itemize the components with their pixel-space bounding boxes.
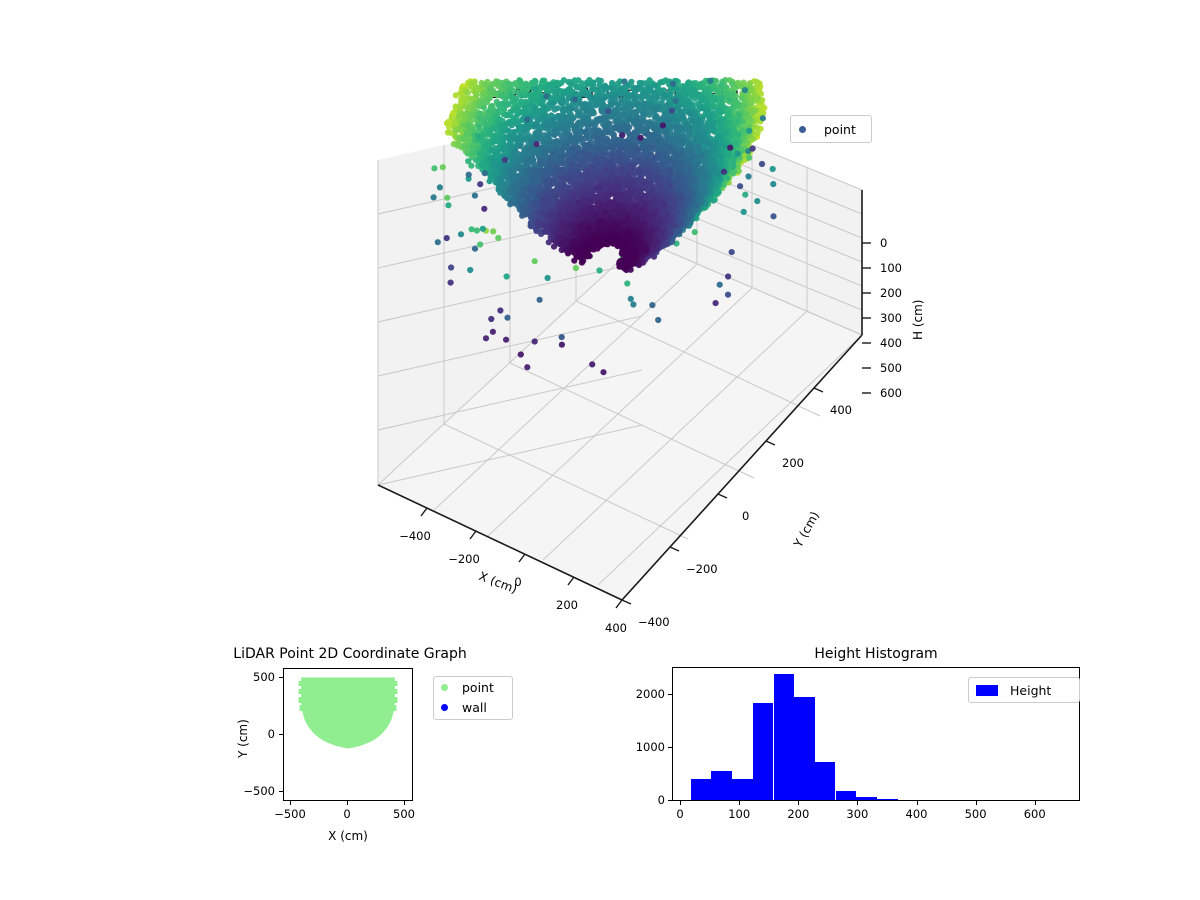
panel-2d-title: LiDAR Point 2D Coordinate Graph (233, 646, 466, 662)
hist-y-tick-label: 1000 (636, 740, 665, 754)
x-tick-label-n500: −500 (274, 807, 306, 821)
hist-y-tick-label: 2000 (636, 687, 665, 701)
x-tick-label-0: 0 (343, 807, 350, 821)
histogram-bar (856, 797, 877, 800)
legend-item-point: point (791, 116, 871, 142)
x-tick-label-0: −400 (399, 529, 431, 543)
hist-y-tick-mark (668, 800, 672, 801)
panel-2d-y-axis-label: Y (cm) (236, 719, 250, 758)
hist-x-tick-label: 100 (728, 807, 750, 821)
hist-x-tick-mark (1035, 801, 1036, 805)
x-tick-mark-2 (404, 801, 405, 805)
histogram-bar (691, 779, 712, 800)
y-tick-label-500: 500 (253, 670, 275, 684)
point-marker-icon (441, 684, 448, 691)
hist-x-tick-label: 400 (906, 807, 928, 821)
hist-x-tick-mark (798, 801, 799, 805)
hist-x-tick-label: 200 (787, 807, 809, 821)
y-tick-mark-1 (279, 734, 283, 735)
y-tick-label-1: −200 (686, 562, 718, 576)
panel-2d-x-axis-label: X (cm) (328, 829, 368, 843)
y-tick-label-0: 0 (268, 727, 275, 741)
x-tick-mark-0 (290, 801, 291, 805)
z-tick-label-2: 200 (880, 286, 902, 300)
hist-y-tick-label: 0 (658, 793, 665, 807)
axes-3d-canvas (360, 140, 900, 620)
hist-y-tick-mark (668, 747, 672, 748)
histogram-bar (711, 771, 732, 800)
z-ticks (862, 243, 871, 393)
y-tick-label-0: −400 (638, 615, 670, 629)
x-tick-label-500: 500 (393, 807, 415, 821)
z-tick-label-1: 100 (880, 261, 902, 275)
hist-x-tick-label: 0 (676, 807, 683, 821)
hist-x-tick-label: 300 (846, 807, 868, 821)
y-tick-mark-0 (279, 677, 283, 678)
hist-y-tick-mark (668, 694, 672, 695)
legend-label-point: point (462, 680, 494, 695)
x-tick-label-4: 400 (605, 621, 627, 635)
y-tick-label-3: 200 (782, 456, 804, 470)
legend-label-wall: wall (462, 700, 487, 715)
x-tick-label-1: −200 (448, 552, 480, 566)
hist-x-tick-mark (739, 801, 740, 805)
histogram-bar (774, 674, 795, 800)
legend-item-point-2d: point (434, 677, 512, 697)
legend-item-height: Height (969, 678, 1079, 702)
legend-label-height: Height (1010, 683, 1051, 698)
y-tick-label-n500: −500 (243, 784, 275, 798)
legend-3d: point (790, 115, 872, 143)
legend-item-wall-2d: wall (434, 697, 512, 717)
height-patch-icon (976, 685, 998, 696)
x-tick-label-3: 200 (556, 598, 578, 612)
axes-3d (360, 140, 900, 620)
legend-histogram: Height (968, 677, 1080, 703)
hist-x-tick-mark (976, 801, 977, 805)
y-tick-label-2: 0 (742, 509, 749, 523)
legend-label-point: point (824, 122, 856, 137)
axes-2d-canvas (284, 669, 412, 800)
matplotlib-figure: LiDAR Point 3D Coordinate Graph point (0, 0, 1200, 900)
histogram-bar (732, 779, 753, 800)
z-tick-label-5: 500 (880, 361, 902, 375)
hist-x-tick-mark (680, 801, 681, 805)
hist-x-tick-label: 500 (965, 807, 987, 821)
x-tick-mark-1 (347, 801, 348, 805)
histogram-bar (815, 762, 836, 800)
histogram-bar (877, 799, 898, 800)
z-tick-label-0: 0 (880, 236, 887, 250)
z-tick-label-4: 400 (880, 336, 902, 350)
panel-hist-title: Height Histogram (814, 646, 937, 662)
y-tick-mark-2 (279, 791, 283, 792)
legend-2d: point wall (433, 676, 513, 720)
wall-marker-icon (441, 704, 448, 711)
y-tick-label-4: 400 (830, 403, 852, 417)
histogram-bar (794, 697, 815, 801)
hist-x-tick-mark (917, 801, 918, 805)
point-region-2d (301, 678, 395, 749)
hist-x-tick-label: 600 (1024, 807, 1046, 821)
histogram-bar (753, 703, 774, 800)
z-axis-label: H (cm) (911, 300, 925, 341)
axes-2d (283, 668, 413, 801)
z-tick-label-3: 300 (880, 311, 902, 325)
histogram-bar (836, 791, 857, 800)
point-marker-icon (799, 126, 806, 133)
hist-x-tick-mark (857, 801, 858, 805)
z-tick-label-6: 600 (880, 386, 902, 400)
